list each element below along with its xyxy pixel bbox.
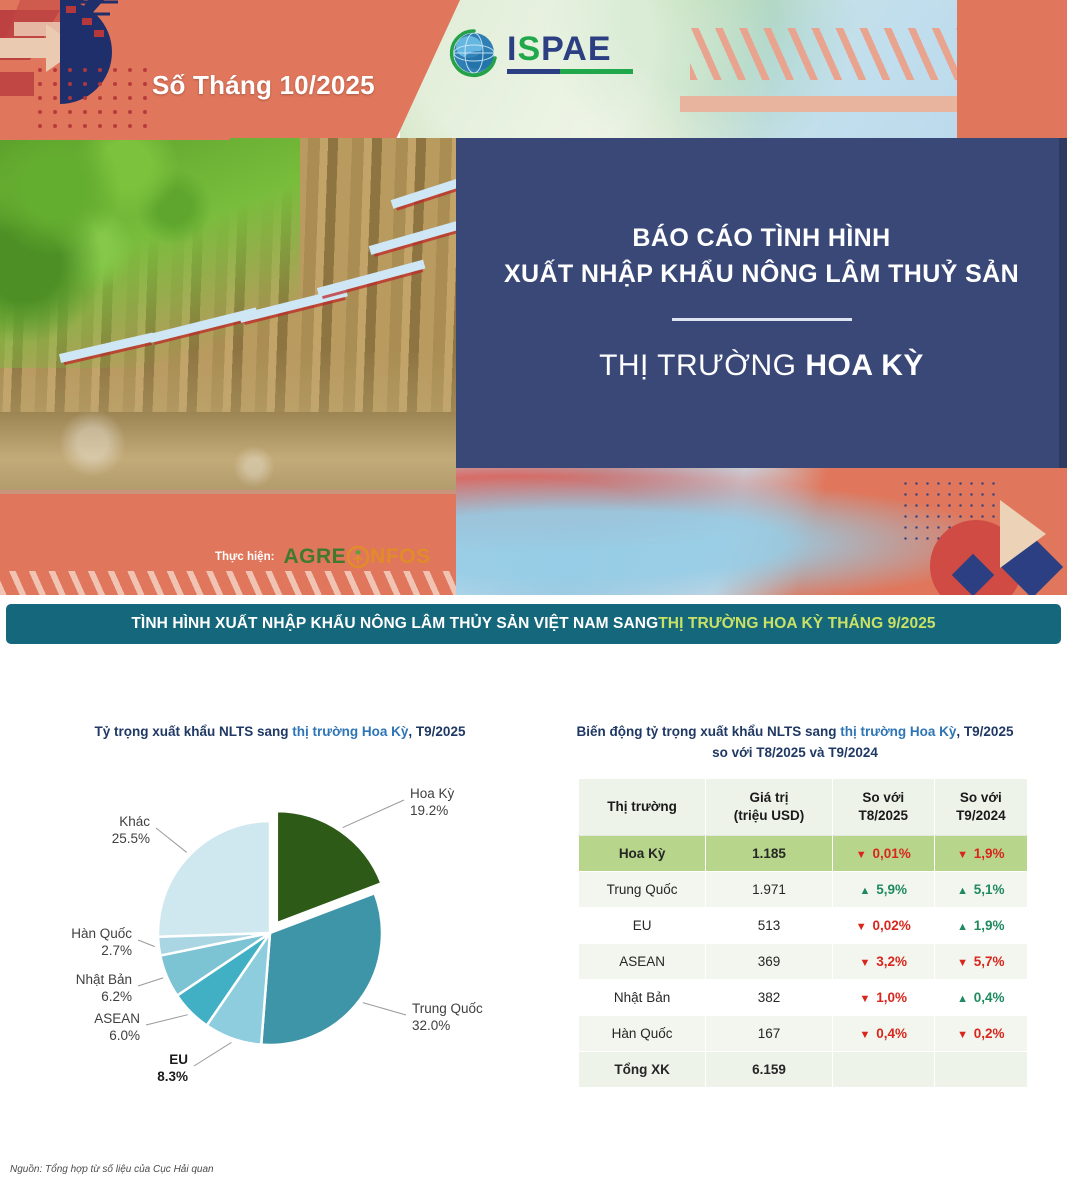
pie-label-value: 6.2% bbox=[101, 989, 132, 1004]
table-row: ASEAN369▼ 3,2%▼ 5,7% bbox=[579, 944, 1028, 980]
up-triangle-icon: ▲ bbox=[957, 885, 968, 897]
table-title-part1: Biến động tỷ trọng xuất khẩu NLTS sang bbox=[577, 724, 841, 739]
pie-chart-svg: Hoa Kỳ19.2%Trung Quốc32.0%EU8.3%ASEAN6.0… bbox=[40, 768, 540, 1108]
cell-value: 513 bbox=[706, 908, 833, 944]
table-title-market: thị trường Hoa Kỳ bbox=[840, 724, 956, 739]
pie-slice-khác bbox=[158, 821, 270, 937]
ispae-wordmark: ISPAE bbox=[507, 32, 633, 66]
table-header-cell-1: Giá trị(triệu USD) bbox=[706, 779, 833, 836]
cover-title-panel: BÁO CÁO TÌNH HÌNH XUẤT NHẬP KHẨU NÔNG LÂ… bbox=[456, 138, 1067, 468]
down-triangle-icon: ▼ bbox=[856, 849, 867, 861]
up-triangle-icon: ▲ bbox=[957, 993, 968, 1005]
pie-title-part1: Tỷ trọng xuất khẩu NLTS sang bbox=[95, 724, 293, 739]
pie-chart-title: Tỷ trọng xuất khẩu NLTS sang thị trường … bbox=[30, 722, 530, 743]
table-row: Hoa Kỳ1.185▼ 0,01%▼ 1,9% bbox=[579, 836, 1028, 872]
pie-leader-line bbox=[138, 940, 155, 947]
cell-change-t8: ▼ 3,2% bbox=[832, 944, 934, 980]
pie-label-name: ASEAN bbox=[94, 1011, 140, 1026]
banner-text-plain: TÌNH HÌNH XUẤT NHẬP KHẨU NÔNG LÂM THỦY S… bbox=[131, 615, 658, 633]
banner-text-highlight: THỊ TRƯỜNG HOA KỲ THÁNG 9/2025 bbox=[658, 615, 935, 633]
down-triangle-icon: ▼ bbox=[860, 1029, 871, 1041]
credit-label: Thực hiện: bbox=[215, 551, 274, 563]
table-title-line2: so với T8/2025 và T9/2024 bbox=[712, 745, 878, 760]
pie-label-value: 6.0% bbox=[109, 1028, 140, 1043]
report-title-line2: XUẤT NHẬP KHẨU NÔNG LÂM THUỶ SẢN bbox=[504, 260, 1019, 289]
table-header-cell-2: So vớiT8/2025 bbox=[832, 779, 934, 836]
subtitle-market: HOA KỲ bbox=[805, 349, 924, 382]
cell-market: Nhật Bản bbox=[579, 980, 706, 1016]
cell-value: 1.971 bbox=[706, 872, 833, 908]
pie-label-name: Khác bbox=[119, 814, 150, 829]
navy-panel-right-edge bbox=[1059, 138, 1067, 468]
pie-leader-line bbox=[363, 1003, 406, 1015]
cell-market: EU bbox=[579, 908, 706, 944]
ispae-underline-bar bbox=[507, 69, 633, 74]
cell-market: Hoa Kỳ bbox=[579, 836, 706, 872]
cell-value: 1.185 bbox=[706, 836, 833, 872]
cell-change-t9: ▼ 0,2% bbox=[934, 1016, 1027, 1052]
pie-label-name: Trung Quốc bbox=[412, 1001, 483, 1016]
cell-market: Trung Quốc bbox=[579, 872, 706, 908]
agroinfos-person-icon bbox=[347, 546, 369, 568]
pie-label-value: 8.3% bbox=[157, 1069, 188, 1084]
credit-block: Thực hiện: AGRE NFOS bbox=[215, 545, 430, 569]
cell-market: Hàn Quốc bbox=[579, 1016, 706, 1052]
cell-change-t9: ▼ 5,7% bbox=[934, 944, 1027, 980]
cell-value: 6.159 bbox=[706, 1052, 833, 1088]
cell-change-t8: ▼ 0,02% bbox=[832, 908, 934, 944]
pie-label-name: Hoa Kỳ bbox=[410, 786, 455, 801]
table-header-row: Thị trườngGiá trị(triệu USD)So vớiT8/202… bbox=[579, 779, 1028, 836]
pie-label-value: 19.2% bbox=[410, 803, 448, 818]
cell-market: Tổng XK bbox=[579, 1052, 706, 1088]
pie-label-name: Nhật Bản bbox=[76, 972, 132, 987]
globe-icon bbox=[449, 28, 499, 78]
cell-change-t9: ▲ 1,9% bbox=[934, 908, 1027, 944]
down-triangle-icon: ▼ bbox=[957, 849, 968, 861]
table-row: Hàn Quốc167▼ 0,4%▼ 0,2% bbox=[579, 1016, 1028, 1052]
cell-value: 382 bbox=[706, 980, 833, 1016]
table-title: Biến động tỷ trọng xuất khẩu NLTS sang t… bbox=[545, 722, 1045, 764]
down-triangle-icon: ▼ bbox=[957, 957, 968, 969]
up-triangle-icon: ▲ bbox=[957, 921, 968, 933]
pie-leader-line bbox=[138, 978, 163, 986]
header-top-right-coral-block bbox=[957, 0, 1067, 140]
pie-label-value: 25.5% bbox=[112, 831, 150, 846]
issue-month-badge: Số Tháng 10/2025 bbox=[152, 70, 375, 101]
agroinfos-part2: NFOS bbox=[370, 545, 430, 569]
agroinfos-logo: AGRE NFOS bbox=[283, 545, 430, 569]
cell-value: 167 bbox=[706, 1016, 833, 1052]
header-diagonal-stripes-decoration bbox=[690, 28, 1000, 80]
subtitle-prefix: THỊ TRƯỜNG bbox=[599, 349, 805, 382]
table-row: Trung Quốc1.971▲ 5,9%▲ 5,1% bbox=[579, 872, 1028, 908]
pie-label-name: EU bbox=[169, 1052, 188, 1067]
pie-title-part2: , T9/2025 bbox=[408, 724, 465, 739]
title-divider bbox=[672, 318, 852, 321]
market-comparison-table-wrap: Thị trườngGiá trị(triệu USD)So vớiT8/202… bbox=[578, 778, 1028, 1088]
source-note: Nguồn: Tổng hợp từ số liệu của Cục Hải q… bbox=[10, 1164, 214, 1175]
cell-market: ASEAN bbox=[579, 944, 706, 980]
table-head: Thị trườngGiá trị(triệu USD)So vớiT8/202… bbox=[579, 779, 1028, 836]
market-comparison-table: Thị trườngGiá trị(triệu USD)So vớiT8/202… bbox=[578, 778, 1028, 1088]
cell-change-t8: ▼ 0,01% bbox=[832, 836, 934, 872]
bottom-right-arrow-decoration bbox=[1000, 500, 1046, 568]
pie-chart: Hoa Kỳ19.2%Trung Quốc32.0%EU8.3%ASEAN6.0… bbox=[40, 768, 540, 1108]
header-horizontal-bar-decoration bbox=[680, 96, 990, 112]
pie-label-value: 2.7% bbox=[101, 943, 132, 958]
table-title-part2: , T9/2025 bbox=[956, 724, 1013, 739]
table-row: Tổng XK6.159 bbox=[579, 1052, 1028, 1088]
table-row: EU513▼ 0,02%▲ 1,9% bbox=[579, 908, 1028, 944]
down-triangle-icon: ▼ bbox=[860, 993, 871, 1005]
ispae-logo: ISPAE bbox=[449, 28, 633, 78]
cover-hero: Số Tháng 10/2025 ISPAE bbox=[0, 0, 1067, 595]
cell-change-t9: ▲ 5,1% bbox=[934, 872, 1027, 908]
cell-change-t9 bbox=[934, 1052, 1027, 1088]
cell-change-t8: ▼ 1,0% bbox=[832, 980, 934, 1016]
cell-change-t9: ▼ 1,9% bbox=[934, 836, 1027, 872]
cell-change-t8 bbox=[832, 1052, 934, 1088]
cell-value: 369 bbox=[706, 944, 833, 980]
table-row: Nhật Bản382▼ 1,0%▲ 0,4% bbox=[579, 980, 1028, 1016]
table-header-cell-3: So vớiT9/2024 bbox=[934, 779, 1027, 836]
report-subtitle: THỊ TRƯỜNG HOA KỲ bbox=[599, 349, 924, 383]
pie-leader-line bbox=[146, 1015, 188, 1025]
pie-leader-line bbox=[343, 800, 404, 828]
section-banner: TÌNH HÌNH XUẤT NHẬP KHẨU NÔNG LÂM THỦY S… bbox=[6, 604, 1061, 644]
report-title-line1: BÁO CÁO TÌNH HÌNH bbox=[632, 224, 890, 253]
pie-leader-line bbox=[156, 828, 187, 852]
content-area: Tỷ trọng xuất khẩu NLTS sang thị trường … bbox=[0, 660, 1067, 1200]
cell-change-t8: ▲ 5,9% bbox=[832, 872, 934, 908]
cover-photo-rubber-plantation bbox=[0, 138, 462, 490]
down-triangle-icon: ▼ bbox=[957, 1029, 968, 1041]
agroinfos-part1: AGRE bbox=[283, 545, 346, 569]
table-body: Hoa Kỳ1.185▼ 0,01%▼ 1,9%Trung Quốc1.971▲… bbox=[579, 836, 1028, 1088]
down-triangle-icon: ▼ bbox=[856, 921, 867, 933]
table-header-cell-0: Thị trường bbox=[579, 779, 706, 836]
down-triangle-icon: ▼ bbox=[860, 957, 871, 969]
up-triangle-icon: ▲ bbox=[860, 885, 871, 897]
pie-label-name: Hàn Quốc bbox=[71, 926, 132, 941]
cell-change-t8: ▼ 0,4% bbox=[832, 1016, 934, 1052]
cell-change-t9: ▲ 0,4% bbox=[934, 980, 1027, 1016]
pie-leader-line bbox=[194, 1042, 231, 1066]
pie-title-market: thị trường Hoa Kỳ bbox=[292, 724, 408, 739]
pie-label-value: 32.0% bbox=[412, 1018, 450, 1033]
